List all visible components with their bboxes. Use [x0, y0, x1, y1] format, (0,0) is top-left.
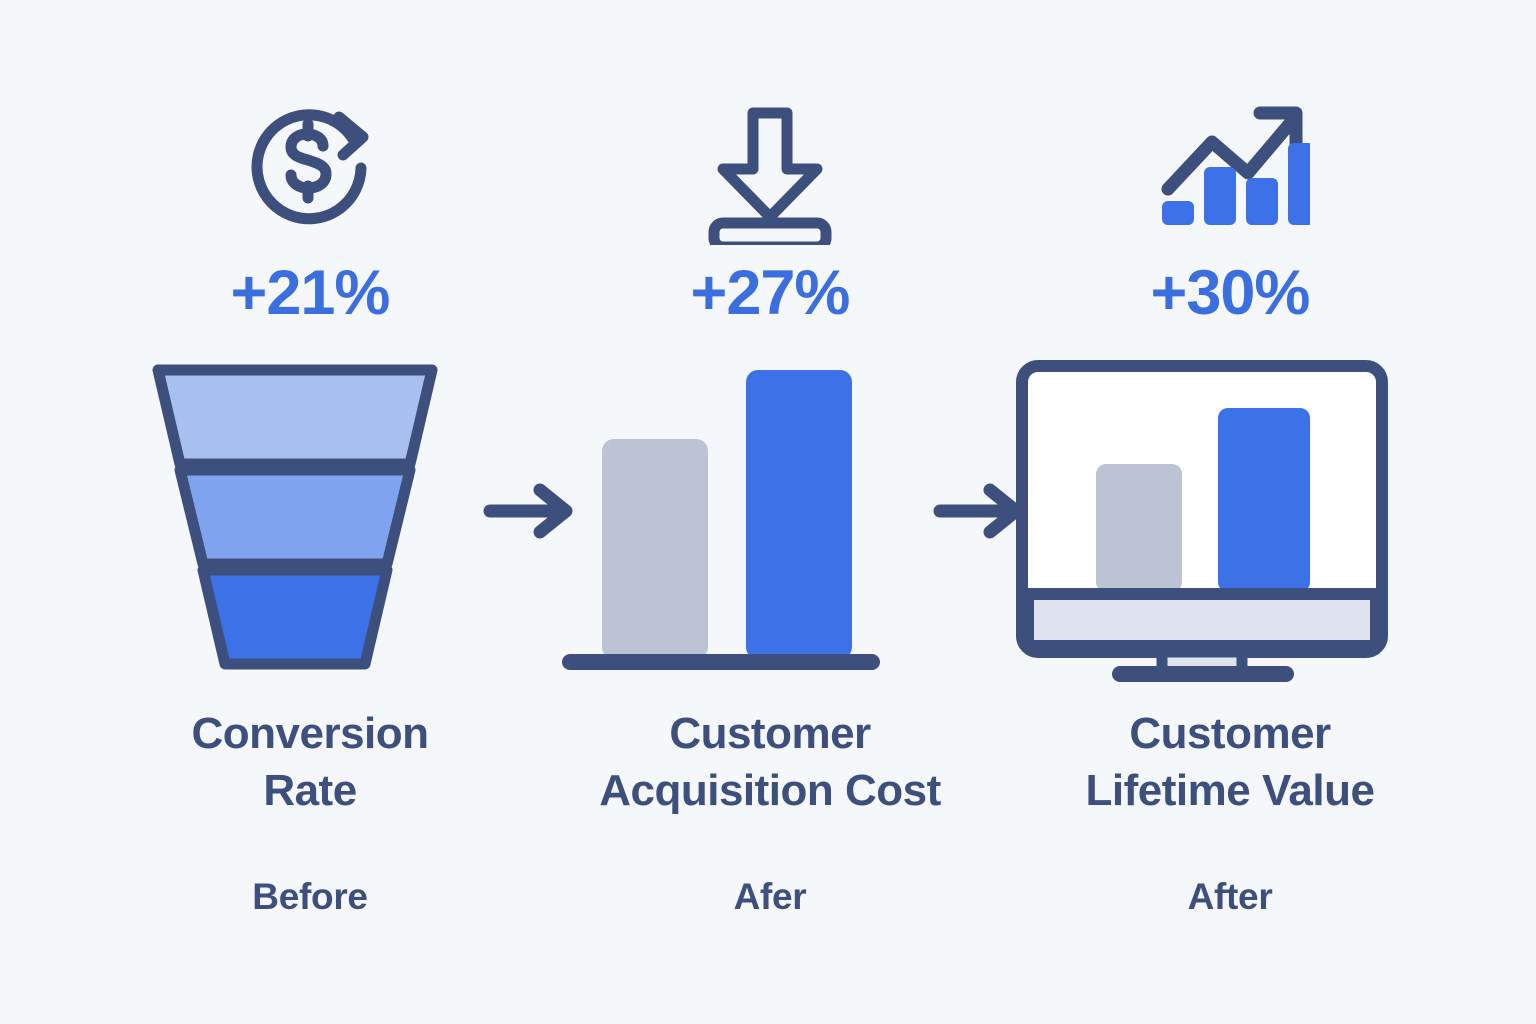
metric-percent-change: +30%: [1000, 262, 1460, 325]
metric-phase-label: Before: [80, 876, 540, 918]
metric-title: Customer Acquisition Cost: [540, 705, 1000, 819]
bar-before: [602, 439, 708, 659]
arrow-cost-to-value: [928, 476, 1038, 546]
funnel-segment-top: [158, 370, 432, 464]
growth-bar-1: [1162, 201, 1194, 225]
dollar-refresh-icon: [80, 95, 540, 245]
infographic-canvas: +21% Conversion Rate Before +27%: [0, 0, 1536, 1024]
monitor-bar-chart: [1000, 352, 1460, 682]
arrow-funnel-to-cost: [478, 476, 588, 546]
metric-phase-label: Afer: [540, 876, 1000, 918]
metric-title-line-1: Conversion: [80, 705, 540, 762]
screen-bar-before: [1096, 464, 1182, 592]
metric-column-customer-lifetime-value: +30% Customer Lifetime Value After: [1000, 0, 1460, 1024]
metric-title: Conversion Rate: [80, 705, 540, 819]
growth-bar-2: [1204, 167, 1236, 225]
bar-after: [746, 370, 852, 659]
metric-title-line-1: Customer: [1000, 705, 1460, 762]
metric-title-line-2: Lifetime Value: [1000, 762, 1460, 819]
monitor-stand-base: [1112, 666, 1294, 682]
screen-bar-after: [1218, 408, 1310, 592]
download-arrow-icon: [540, 95, 1000, 245]
metric-title-line-1: Customer: [540, 705, 1000, 762]
growth-bar-4: [1288, 143, 1310, 225]
funnel-segment-middle: [180, 470, 410, 564]
metric-title: Customer Lifetime Value: [1000, 705, 1460, 819]
chart-baseline: [562, 654, 880, 670]
metric-percent-change: +21%: [80, 262, 540, 325]
funnel-segment-bottom: [203, 570, 387, 664]
growth-chart-icon: [1000, 95, 1460, 245]
monitor-bezel: [1028, 594, 1376, 646]
metric-title-line-2: Acquisition Cost: [540, 762, 1000, 819]
metric-column-conversion-rate: +21% Conversion Rate Before: [80, 0, 540, 1024]
growth-bar-3: [1246, 178, 1278, 225]
metric-percent-change: +27%: [540, 262, 1000, 325]
conversion-funnel: [80, 352, 540, 682]
metric-phase-label: After: [1000, 876, 1460, 918]
metric-title-line-2: Rate: [80, 762, 540, 819]
